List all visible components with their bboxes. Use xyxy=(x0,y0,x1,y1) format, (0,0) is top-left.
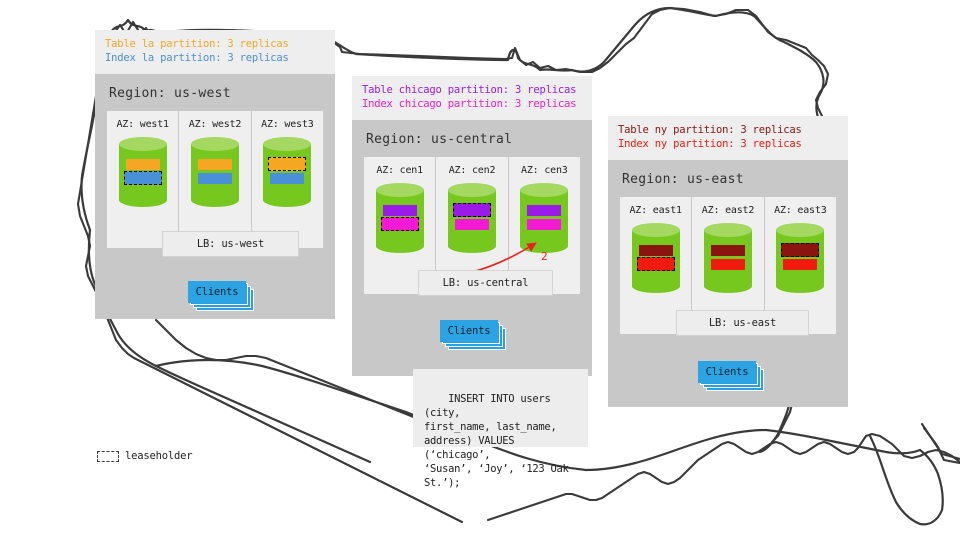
annotation-number-2: 2 xyxy=(541,250,548,263)
index-replica-stripe xyxy=(198,173,232,184)
az-cell-west3[interactable]: AZ: west3 xyxy=(252,111,323,248)
region-title: Region: us-east xyxy=(622,172,836,187)
node-cylinder-east2[interactable] xyxy=(704,223,752,293)
clients-label: Clients xyxy=(448,325,491,337)
table-partition-line: Table la partition: 3 replicas xyxy=(105,38,325,52)
index-replica-stripe xyxy=(270,173,304,184)
az-label: AZ: east3 xyxy=(774,205,826,216)
load-balancer-us-east[interactable]: LB: us-east xyxy=(676,310,809,336)
node-cylinder-cen1[interactable] xyxy=(376,183,424,253)
table-replica-stripe xyxy=(383,205,417,216)
clients-us-east[interactable]: Clients xyxy=(698,361,760,387)
cylinder-top xyxy=(704,223,752,237)
index-replica-stripe xyxy=(711,259,745,270)
diagram-canvas: Table la partition: 3 replicas Index la … xyxy=(0,0,960,540)
index-partition-line: Index la partition: 3 replicas xyxy=(105,52,325,66)
cylinder-body xyxy=(448,190,496,246)
az-label: AZ: west3 xyxy=(261,119,313,130)
cylinder-top xyxy=(448,183,496,197)
cylinder-top xyxy=(263,137,311,151)
lb-label: LB: us-west xyxy=(197,238,264,250)
load-balancer-us-west[interactable]: LB: us-west xyxy=(162,231,299,257)
node-cylinder-west1[interactable] xyxy=(119,137,167,207)
az-cell-west2[interactable]: AZ: west2 xyxy=(179,111,251,248)
table-replica-stripe xyxy=(639,245,673,256)
index-replica-stripe-leaseholder xyxy=(637,257,675,271)
table-replica-stripe-leaseholder xyxy=(268,157,306,171)
leaseholder-swatch-icon xyxy=(97,451,119,462)
sql-statement-text: INSERT INTO users (city, first_name, las… xyxy=(424,393,569,489)
partition-summary-us-west: Table la partition: 3 replicas Index la … xyxy=(95,30,335,74)
cylinder-body xyxy=(776,230,824,286)
index-replica-stripe-leaseholder xyxy=(381,217,419,231)
clients-button[interactable]: Clients xyxy=(188,281,246,303)
sql-statement-box: INSERT INTO users (city, first_name, las… xyxy=(413,369,588,447)
annotation-number-label: 2 xyxy=(541,250,548,263)
cylinder-top xyxy=(191,137,239,151)
table-replica-stripe-leaseholder xyxy=(453,203,491,217)
cylinder-body xyxy=(191,144,239,200)
az-label: AZ: east2 xyxy=(702,205,754,216)
clients-label: Clients xyxy=(196,286,239,298)
table-replica-stripe xyxy=(198,159,232,170)
clients-button[interactable]: Clients xyxy=(440,320,498,342)
table-partition-line: Table chicago partition: 3 replicas xyxy=(362,84,582,98)
table-replica-stripe xyxy=(126,159,160,170)
index-partition-line: Index ny partition: 3 replicas xyxy=(618,138,838,152)
index-replica-stripe xyxy=(783,259,817,270)
az-label: AZ: west2 xyxy=(189,119,241,130)
node-cylinder-east3[interactable] xyxy=(776,223,824,293)
cylinder-top xyxy=(376,183,424,197)
cylinder-top xyxy=(632,223,680,237)
index-replica-stripe xyxy=(455,219,489,230)
cylinder-body xyxy=(704,230,752,286)
clients-button[interactable]: Clients xyxy=(698,361,756,383)
node-cylinder-east1[interactable] xyxy=(632,223,680,293)
cylinder-top xyxy=(119,137,167,151)
table-replica-stripe xyxy=(711,245,745,256)
index-replica-stripe xyxy=(527,219,561,230)
az-row-us-west: AZ: west1 AZ: west2 xyxy=(107,111,323,248)
node-cylinder-cen3[interactable] xyxy=(520,183,568,253)
clients-label: Clients xyxy=(706,366,749,378)
region-title: Region: us-west xyxy=(109,86,323,101)
lb-label: LB: us-east xyxy=(709,317,776,329)
az-cell-west1[interactable]: AZ: west1 xyxy=(107,111,179,248)
region-title: Region: us-central xyxy=(366,132,580,147)
cylinder-top xyxy=(520,183,568,197)
table-partition-line: Table ny partition: 3 replicas xyxy=(618,124,838,138)
az-label: AZ: east1 xyxy=(629,205,681,216)
legend-leaseholder: leaseholder xyxy=(97,450,192,462)
clients-stack[interactable]: Clients xyxy=(188,281,250,307)
table-replica-stripe xyxy=(527,205,561,216)
cylinder-body xyxy=(263,144,311,200)
az-label: AZ: cen3 xyxy=(521,165,568,176)
index-replica-stripe-leaseholder xyxy=(124,171,162,185)
node-cylinder-west3[interactable] xyxy=(263,137,311,207)
index-partition-line: Index chicago partition: 3 replicas xyxy=(362,98,582,112)
region-cluster-us-west: Table la partition: 3 replicas Index la … xyxy=(95,30,335,319)
partition-summary-us-east: Table ny partition: 3 replicas Index ny … xyxy=(608,116,848,160)
node-cylinder-cen2[interactable] xyxy=(448,183,496,253)
partition-summary-us-central: Table chicago partition: 3 replicas Inde… xyxy=(352,76,592,120)
clients-stack[interactable]: Clients xyxy=(698,361,760,387)
legend-label: leaseholder xyxy=(125,450,192,462)
clients-stack[interactable]: Clients xyxy=(440,320,502,346)
load-balancer-us-central[interactable]: LB: us-central xyxy=(418,270,553,296)
az-label: AZ: cen2 xyxy=(449,165,496,176)
clients-us-central[interactable]: Clients xyxy=(440,320,502,346)
lb-label: LB: us-central xyxy=(443,277,529,289)
table-replica-stripe-leaseholder xyxy=(781,243,819,257)
clients-us-west[interactable]: Clients xyxy=(188,281,250,307)
az-label: AZ: west1 xyxy=(116,119,168,130)
cylinder-top xyxy=(776,223,824,237)
node-cylinder-west2[interactable] xyxy=(191,137,239,207)
cylinder-body xyxy=(520,190,568,246)
az-label: AZ: cen1 xyxy=(376,165,423,176)
